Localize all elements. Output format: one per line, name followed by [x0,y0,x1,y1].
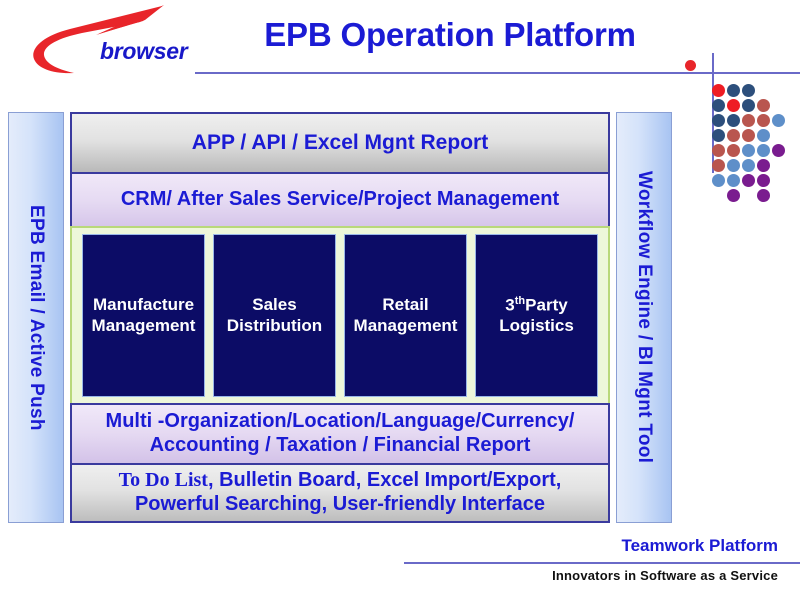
decorative-dot [742,114,755,127]
decorative-dot [712,99,725,112]
band-todo-utilities[interactable]: To Do List, Bulletin Board, Excel Import… [70,463,610,523]
module-3-line2: Logistics [499,316,574,335]
decorative-dot [757,114,770,127]
decorative-dot [742,129,755,142]
module-retail-management[interactable]: Retail Management [344,234,467,397]
band-todo-rest: , Bulletin Board, Excel Import/Export, [208,469,561,491]
decorative-dot [742,99,755,112]
decorative-dot [742,174,755,187]
decorative-dot [772,144,785,157]
decorative-dot [727,159,740,172]
module-2-line1: Retail [382,295,428,314]
decorative-dot [727,189,740,202]
module-3-line1-prefix: 3 [505,295,514,314]
sidebar-right-label: Workflow Engine / BI Mgnt Tool [633,171,655,463]
band-crm-after-sales[interactable]: CRM/ After Sales Service/Project Managem… [70,172,610,228]
decorative-dot [712,144,725,157]
page-header: browser EPB Operation Platform [0,0,800,100]
decorative-dot [742,159,755,172]
module-third-party-logistics[interactable]: 3thParty Logistics [475,234,598,397]
epb-platform-diagram: EPB Email / Active Push APP / API / Exce… [8,112,672,523]
footer-horizontal-rule [404,562,800,564]
band-app-label: APP / API / Excel Mgnt Report [192,131,488,156]
band-todo-lead: To Do List [119,469,208,491]
decorative-dot [757,129,770,142]
diagram-center-stack: APP / API / Excel Mgnt Report CRM/ After… [70,112,610,523]
decorative-dot [742,144,755,157]
module-sales-distribution[interactable]: Sales Distribution [213,234,336,397]
decorative-dot [712,129,725,142]
module-3-line1-sup: th [515,295,525,307]
page-title: EPB Operation Platform [200,16,700,54]
decorative-dot [757,99,770,112]
module-manufacture-management[interactable]: Manufacture Management [82,234,205,397]
sidebar-left-epb-email[interactable]: EPB Email / Active Push [8,112,64,523]
band-multi-organization[interactable]: Multi -Organization/Location/Language/Cu… [70,403,610,465]
module-1-line1: Sales [252,295,296,314]
browser-logo: browser [12,4,202,74]
footer-teamwork-platform: Teamwork Platform [621,536,778,556]
decorative-dot [727,174,740,187]
sidebar-left-label: EPB Email / Active Push [25,205,47,431]
title-horizontal-rule [195,72,800,74]
decorative-dot [727,114,740,127]
module-1-line2: Distribution [227,316,322,335]
module-2-line2: Management [354,316,458,335]
module-0-line1: Manufacture [93,295,194,314]
decorative-dot [757,189,770,202]
header-red-dot-icon [685,60,696,71]
band-multi-line1: Multi -Organization/Location/Language/Cu… [106,410,575,432]
decorative-dot [772,114,785,127]
band-core-modules: Manufacture Management Sales Distributio… [70,226,610,405]
decorative-dot [712,84,725,97]
sidebar-right-workflow-engine[interactable]: Workflow Engine / BI Mgnt Tool [616,112,672,523]
band-multi-line2: Accounting / Taxation / Financial Report [150,434,531,456]
decorative-dot [742,84,755,97]
decorative-dot [727,99,740,112]
decorative-dot [727,129,740,142]
decorative-dot [712,114,725,127]
decorative-dot [727,144,740,157]
band-crm-label: CRM/ After Sales Service/Project Managem… [121,188,559,212]
decorative-dot [757,174,770,187]
module-0-line2: Management [92,316,196,335]
module-3-line1-suffix: Party [525,295,568,314]
decorative-dot-matrix [712,84,800,204]
band-todo-line2: Powerful Searching, User-friendly Interf… [135,493,545,515]
decorative-dot [757,159,770,172]
decorative-dot [712,174,725,187]
decorative-dot [727,84,740,97]
band-app-api-excel[interactable]: APP / API / Excel Mgnt Report [70,112,610,174]
decorative-dot [757,144,770,157]
decorative-dot [712,159,725,172]
logo-wordmark: browser [100,38,187,65]
footer-tagline: Innovators in Software as a Service [552,568,778,583]
